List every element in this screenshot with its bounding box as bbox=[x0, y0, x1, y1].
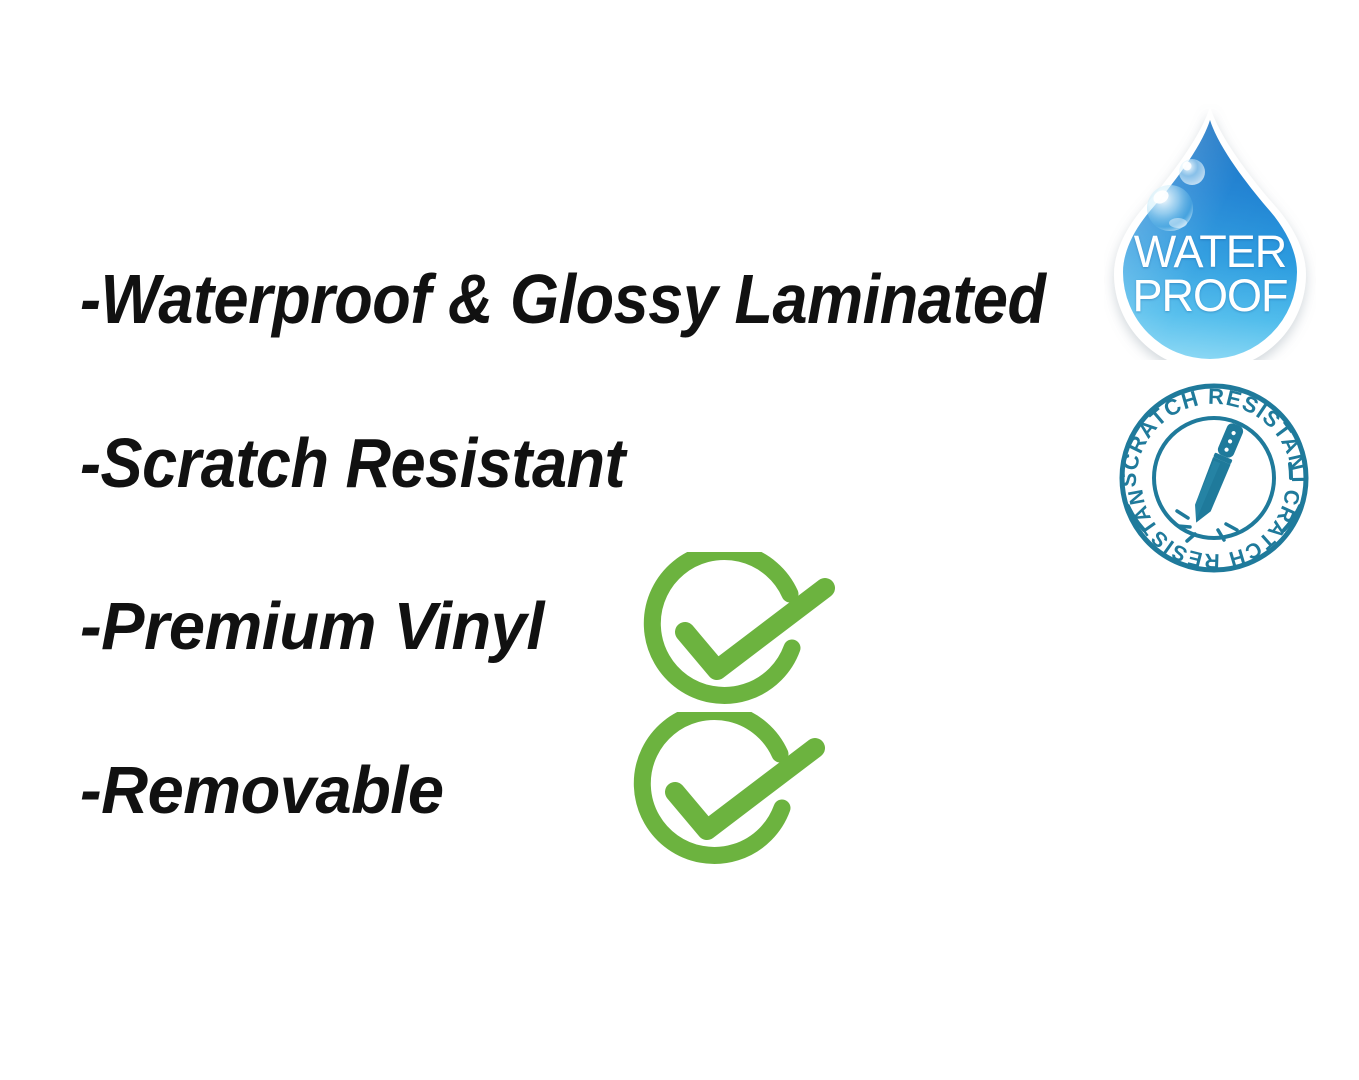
check-circle-removable bbox=[630, 712, 830, 877]
feature-item-waterproof-glossy-laminated: -Waterproof & Glossy Laminated bbox=[80, 262, 1046, 336]
water-droplet-icon bbox=[1104, 104, 1316, 360]
knife-icon bbox=[1187, 421, 1246, 526]
feature-highlights-page: -Waterproof & Glossy Laminated -Scratch … bbox=[0, 0, 1359, 1080]
feature-item-scratch-resistant: -Scratch Resistant bbox=[80, 426, 625, 500]
waterproof-badge: WATER PROOF bbox=[1104, 104, 1316, 360]
feature-item-premium-vinyl: -Premium Vinyl bbox=[80, 590, 544, 664]
feature-list: -Waterproof & Glossy Laminated -Scratch … bbox=[0, 0, 1100, 1080]
scratch-resistant-badge: SCRATCH RESISTANT SCRATCH RESISTANT bbox=[1114, 378, 1314, 574]
check-circle-premium-vinyl bbox=[640, 552, 840, 717]
check-circle-icon bbox=[640, 552, 840, 717]
check-circle-icon bbox=[630, 712, 830, 877]
scratch-resistant-stamp-icon: SCRATCH RESISTANT SCRATCH RESISTANT bbox=[1114, 378, 1314, 574]
bubble-small-icon bbox=[1179, 159, 1205, 185]
feature-item-removable: -Removable bbox=[80, 754, 444, 828]
